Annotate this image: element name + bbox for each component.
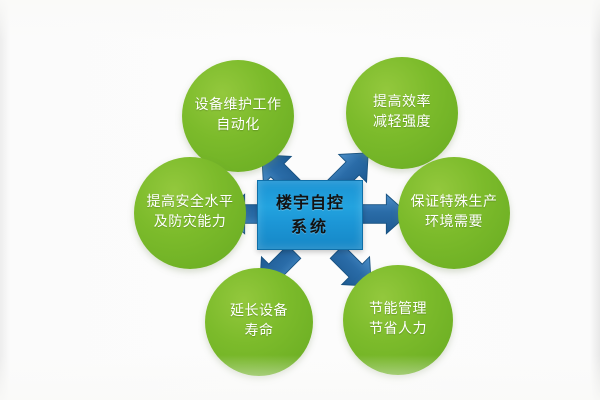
node-label-line1: 保证特殊生产 [411,193,498,213]
node-label-line1: 延长设备 [230,302,288,322]
node-label-line1: 节能管理 [369,300,427,320]
node-extend-equipment-life[interactable]: 延长设备 寿命 [205,268,313,376]
node-label-line2: 节省人力 [369,320,427,340]
node-efficiency-intensity[interactable]: 提高效率 减轻强度 [346,57,458,169]
node-energy-saving-and-manpower[interactable]: 节能管理 节省人力 [343,265,453,375]
node-safety-and-disaster-prevention[interactable]: 提高安全水平 及防灾能力 [134,157,246,269]
node-label-line2: 寿命 [245,322,274,342]
node-special-production-environment[interactable]: 保证特殊生产 环境需要 [398,157,510,269]
diagram-canvas: 设备维护工作 自动化 提高效率 减轻强度 提高安全水平 及防灾能力 保证特殊生产… [0,0,600,400]
node-label-line2: 及防灾能力 [154,213,227,233]
node-equipment-maintenance-automation[interactable]: 设备维护工作 自动化 [182,60,294,172]
node-label-line2: 环境需要 [425,213,483,233]
node-label-line1: 提高效率 [373,93,431,113]
center-label-line1: 楼宇自控 [276,191,344,215]
center-label-line2: 系统 [291,215,329,239]
node-label-line2: 减轻强度 [373,113,431,133]
center-hub-building-automation-system[interactable]: 楼宇自控 系统 [257,180,363,250]
node-label-line1: 设备维护工作 [195,96,282,116]
node-label-line1: 提高安全水平 [147,193,234,213]
node-label-line2: 自动化 [216,116,260,136]
